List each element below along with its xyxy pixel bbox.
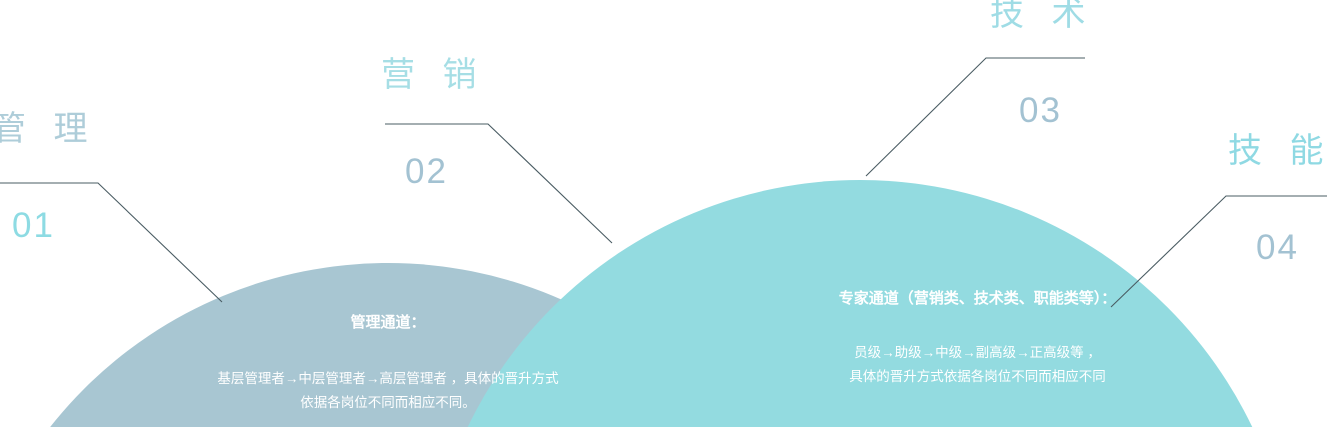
category-number: 02 <box>405 154 485 189</box>
category-title: 营 销 <box>381 58 485 92</box>
diagram-canvas: 管 理 01 营 销 02 技 术 03 技 能 04 管理通道： 基层管理者→… <box>0 0 1327 427</box>
category-title: 技 术 <box>990 0 1094 31</box>
management-channel-heading: 管理通道： <box>128 312 648 333</box>
category-label-03[interactable]: 技 术 03 <box>990 0 1094 128</box>
management-channel-body: 基层管理者→中层管理者→高层管理者 ，具体的晋升方式 依据各岗位不同而相应不同。 <box>128 367 648 414</box>
category-label-01[interactable]: 管 理 01 <box>0 112 96 243</box>
category-number: 03 <box>1019 93 1094 128</box>
category-label-04[interactable]: 技 能 04 <box>1228 134 1327 265</box>
expert-channel-body-line-2: 具体的晋升方式依据各岗位不同而相应不同 <box>620 365 1327 389</box>
management-channel-body-line-2: 依据各岗位不同而相应不同。 <box>128 391 648 415</box>
category-label-02[interactable]: 营 销 02 <box>381 58 485 189</box>
category-title: 技 能 <box>1228 134 1327 168</box>
management-channel-text: 管理通道： 基层管理者→中层管理者→高层管理者 ，具体的晋升方式 依据各岗位不同… <box>128 312 648 414</box>
category-title: 管 理 <box>0 112 96 146</box>
expert-channel-body: 员级→助级→中级→副高级→正高级等 ， 具体的晋升方式依据各岗位不同而相应不同 <box>620 341 1327 388</box>
expert-channel-body-line-1: 员级→助级→中级→副高级→正高级等 ， <box>620 341 1327 365</box>
category-number: 04 <box>1256 230 1327 265</box>
management-channel-body-line-1: 基层管理者→中层管理者→高层管理者 ，具体的晋升方式 <box>128 367 648 391</box>
category-number: 01 <box>12 208 96 243</box>
expert-channel-text: 专家通道（营销类、技术类、职能类等）： 员级→助级→中级→副高级→正高级等 ， … <box>620 288 1327 388</box>
expert-channel-heading: 专家通道（营销类、技术类、职能类等）： <box>620 288 1327 309</box>
